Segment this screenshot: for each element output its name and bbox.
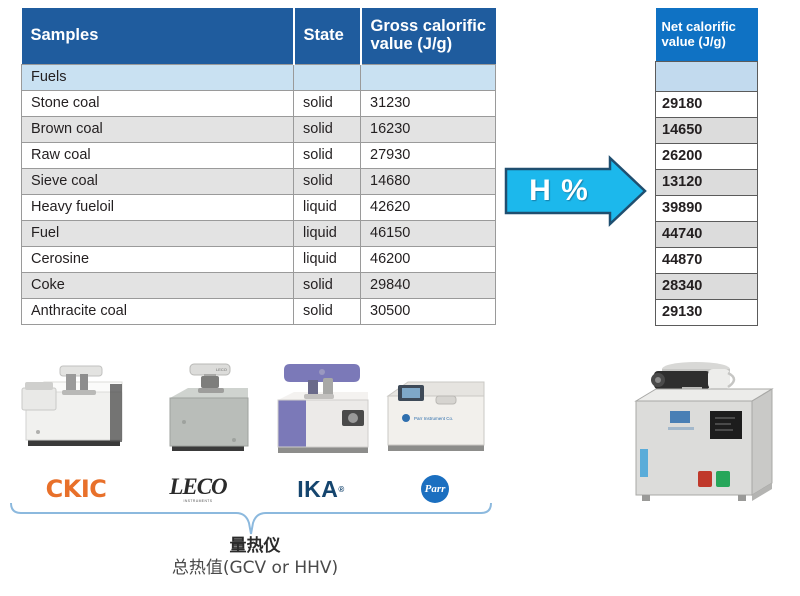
table-row: 39890 — [656, 196, 758, 222]
ncv-value: 44740 — [656, 222, 758, 248]
svg-text:LECO: LECO — [216, 367, 227, 372]
table-row: Brown coal solid 16230 — [22, 117, 496, 143]
table-row: 44870 — [656, 248, 758, 274]
gcv-value: 31230 — [361, 91, 496, 117]
gcv-value: 30500 — [361, 299, 496, 325]
ncv-value: 44870 — [656, 248, 758, 274]
ncv-value: 28340 — [656, 274, 758, 300]
table-row: 13120 — [656, 170, 758, 196]
grouping-brace — [8, 500, 494, 540]
leco-logo-text: LECO — [169, 475, 226, 498]
svg-text:Parr Instrument Co.: Parr Instrument Co. — [414, 416, 453, 421]
table-row: 26200 — [656, 144, 758, 170]
table-row: 28340 — [656, 274, 758, 300]
gcv-state: liquid — [294, 247, 361, 273]
net-calorific-value-table: Net calorific value (J/g) 29180 14650 26… — [655, 8, 758, 326]
table-row: 14650 — [656, 118, 758, 144]
calorimeter-images: LECO Parr Instrument Co. — [8, 348, 494, 476]
table-row: Coke solid 29840 — [22, 273, 496, 299]
gcv-state: solid — [294, 91, 361, 117]
table-row: 29180 — [656, 92, 758, 118]
parr-calorimeter-image: Parr Instrument Co. — [380, 352, 492, 476]
gcv-group-row: Fuels — [22, 65, 496, 91]
gcv-state: solid — [294, 299, 361, 325]
gross-calorific-value-table: Samples State Gross calorific value (J/g… — [21, 8, 496, 325]
caption-title: 量热仪 — [60, 536, 450, 557]
ckic-calorimeter-image — [14, 352, 132, 476]
gcv-table-body: Fuels Stone coal solid 31230 Brown coal … — [22, 65, 496, 325]
gcv-sample: Cerosine — [22, 247, 294, 273]
gcv-value: 29840 — [361, 273, 496, 299]
gcv-value: 42620 — [361, 195, 496, 221]
table-row: Fuel liquid 46150 — [22, 221, 496, 247]
gcv-sample: Coke — [22, 273, 294, 299]
table-row: 29130 — [656, 300, 758, 326]
ncv-value: 14650 — [656, 118, 758, 144]
gcv-group-value — [361, 65, 496, 91]
gcv-value: 16230 — [361, 117, 496, 143]
ika-registered-mark: ® — [338, 485, 344, 494]
gcv-group-label: Fuels — [22, 65, 294, 91]
ncv-table-body: 29180 14650 26200 13120 39890 44740 4487… — [656, 62, 758, 326]
gcv-sample: Sieve coal — [22, 169, 294, 195]
table-row: Sieve coal solid 14680 — [22, 169, 496, 195]
table-row: Anthracite coal solid 30500 — [22, 299, 496, 325]
gcv-header-row: Samples State Gross calorific value (J/g… — [22, 8, 496, 65]
right-arrow-icon — [503, 155, 648, 227]
gcv-state: liquid — [294, 195, 361, 221]
gcv-value: 46150 — [361, 221, 496, 247]
ncv-group-label — [656, 62, 758, 92]
ncv-header-row: Net calorific value (J/g) — [656, 8, 758, 62]
caption-subtitle: 总热值(GCV or HHV) — [60, 557, 450, 579]
gcv-value: 14680 — [361, 169, 496, 195]
gcv-header-samples: Samples — [22, 8, 294, 65]
caption-block: 量热仪 总热值(GCV or HHV) — [60, 536, 450, 579]
ika-logo-text: IKA — [297, 476, 338, 503]
ncv-value: 29180 — [656, 92, 758, 118]
ncv-value: 13120 — [656, 170, 758, 196]
gcv-sample: Anthracite coal — [22, 299, 294, 325]
table-row: Heavy fueloil liquid 42620 — [22, 195, 496, 221]
ncv-value: 29130 — [656, 300, 758, 326]
table-row: Stone coal solid 31230 — [22, 91, 496, 117]
ncv-value: 39890 — [656, 196, 758, 222]
bomb-calorimeter-image — [612, 345, 792, 530]
gcv-state: solid — [294, 117, 361, 143]
gcv-header-state: State — [294, 8, 361, 65]
gcv-value: 46200 — [361, 247, 496, 273]
ncv-group-row — [656, 62, 758, 92]
gcv-sample: Raw coal — [22, 143, 294, 169]
gcv-state: liquid — [294, 221, 361, 247]
table-row: Cerosine liquid 46200 — [22, 247, 496, 273]
ncv-value: 26200 — [656, 144, 758, 170]
conversion-arrow: H % — [503, 155, 648, 227]
gcv-group-state — [294, 65, 361, 91]
gcv-sample: Brown coal — [22, 117, 294, 143]
table-row: 44740 — [656, 222, 758, 248]
gcv-state: solid — [294, 143, 361, 169]
leco-calorimeter-image: LECO — [154, 352, 258, 476]
parr-logo-text: Parr — [421, 475, 449, 503]
gcv-state: solid — [294, 169, 361, 195]
ncv-table-header: Net calorific value (J/g) — [656, 8, 758, 62]
gcv-table-header: Samples State Gross calorific value (J/g… — [22, 8, 496, 65]
ncv-header-value: Net calorific value (J/g) — [656, 8, 758, 62]
table-row: Raw coal solid 27930 — [22, 143, 496, 169]
gcv-sample: Heavy fueloil — [22, 195, 294, 221]
gcv-sample: Stone coal — [22, 91, 294, 117]
gcv-header-value: Gross calorific value (J/g) — [361, 8, 496, 65]
gcv-sample: Fuel — [22, 221, 294, 247]
gcv-state: solid — [294, 273, 361, 299]
gcv-value: 27930 — [361, 143, 496, 169]
ika-calorimeter-image — [268, 352, 378, 476]
